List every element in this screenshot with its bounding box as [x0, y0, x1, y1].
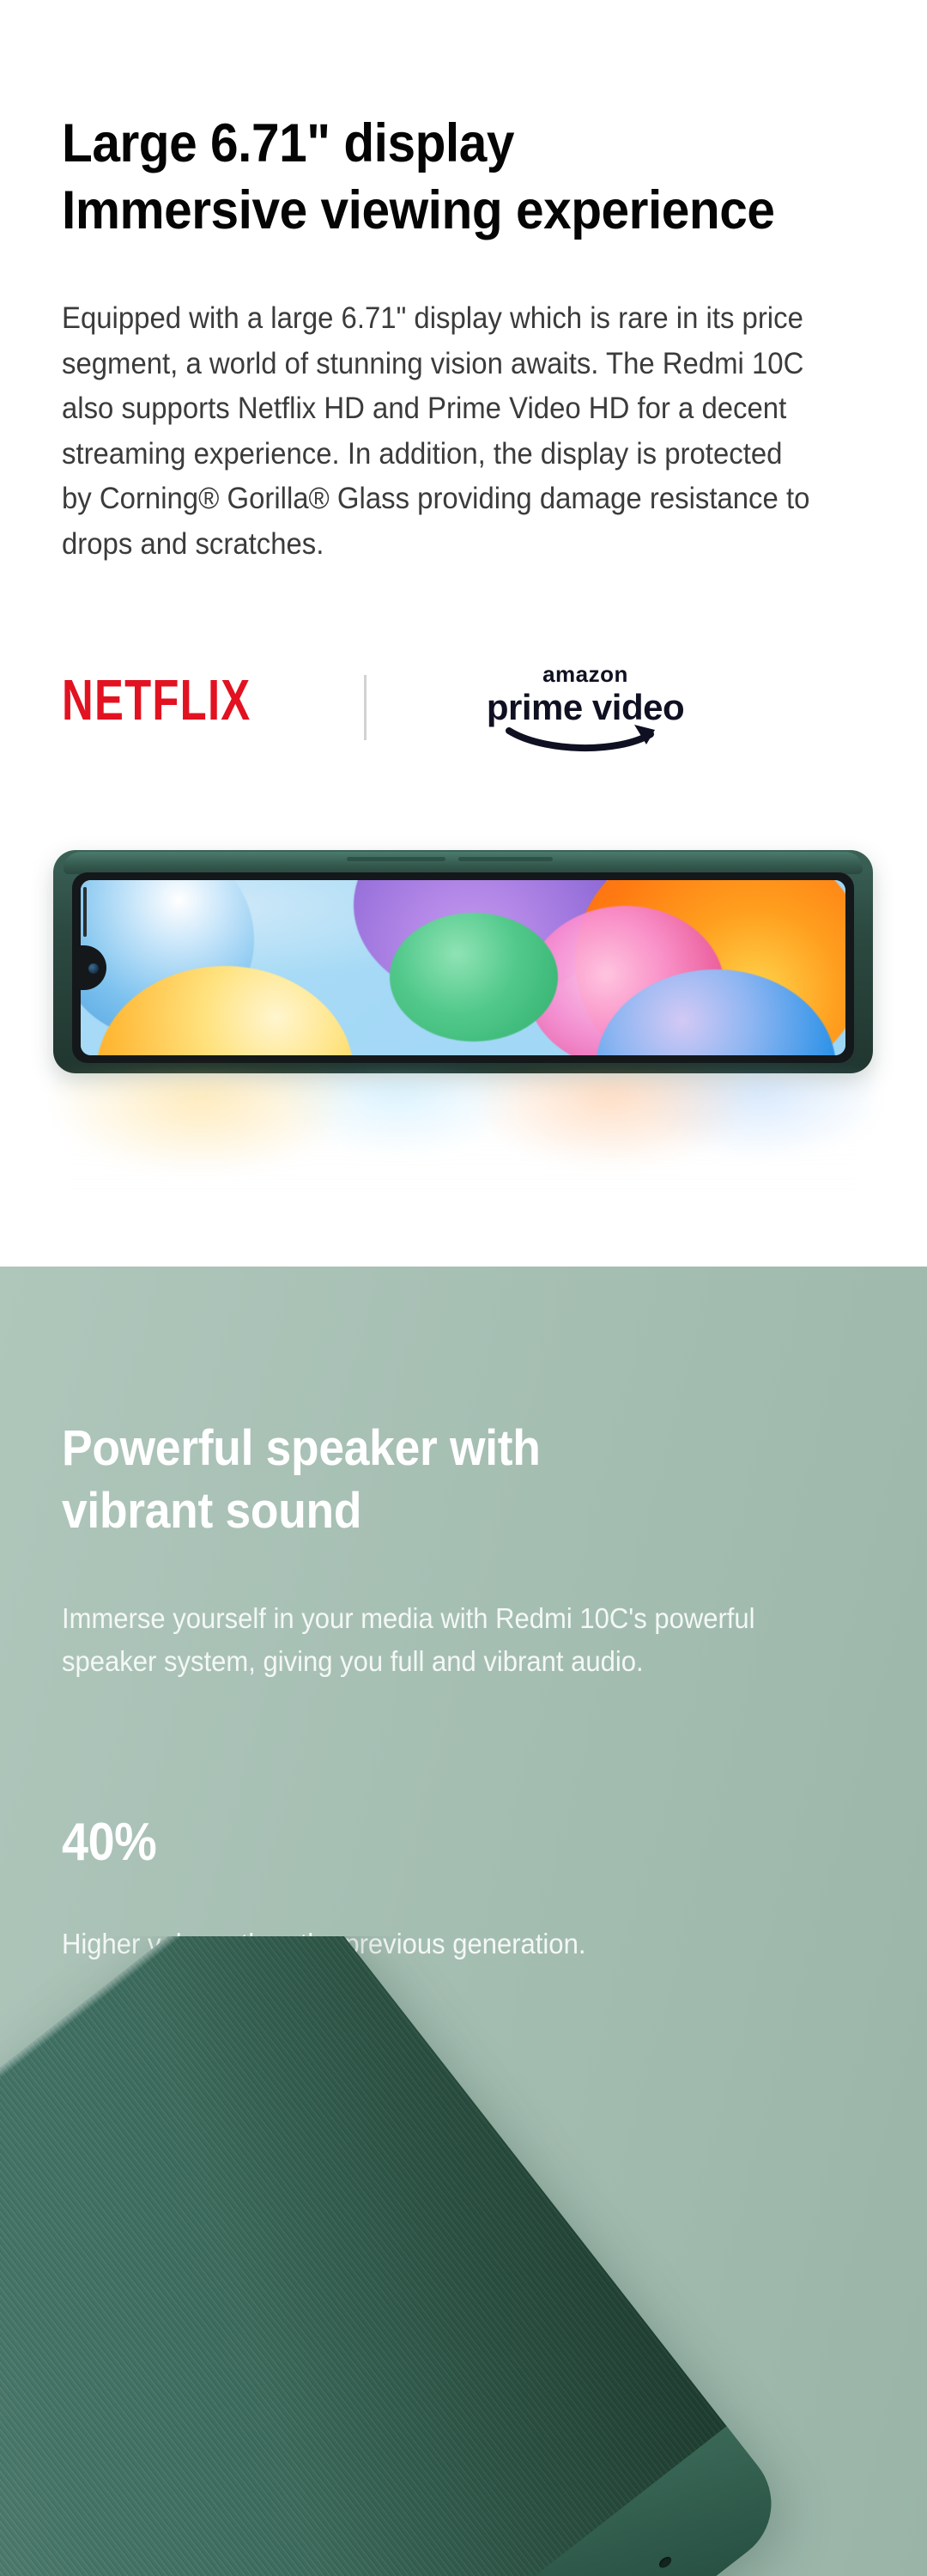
streaming-partner-logos: NETFLIX amazon prime video [62, 661, 714, 751]
wallpaper-blob-green [390, 913, 558, 1042]
prime-video-wordmark: prime video [487, 687, 684, 728]
reflection-fade-overlay [0, 1157, 927, 1267]
phone-back-cover [0, 1936, 796, 2576]
speaker-section-heading: Powerful speaker with vibrant sound [62, 1417, 772, 1542]
display-heading-line-2: Immersive viewing experience [62, 177, 828, 244]
redmi-10c-back-image [0, 1936, 927, 2576]
speaker-section-body: Immerse yourself in your media with Redm… [62, 1597, 772, 1683]
display-heading-line-1: Large 6.71" display [62, 110, 828, 177]
display-feature-section: Large 6.71" display Immersive viewing ex… [0, 0, 927, 1267]
earpiece-speaker [83, 887, 87, 937]
phone-body [53, 850, 873, 1073]
redmi-10c-front-image [0, 820, 927, 1267]
amazon-wordmark: amazon [542, 661, 628, 688]
amazon-smile-arrow-icon [504, 723, 667, 752]
phone-screen [81, 880, 845, 1055]
amazon-prime-video-logo: amazon prime video [457, 661, 714, 747]
speaker-heading-line-2: vibrant sound [62, 1479, 772, 1542]
volume-up-button [347, 857, 445, 861]
display-section-heading: Large 6.71" display Immersive viewing ex… [62, 110, 828, 244]
front-camera-icon [88, 963, 99, 974]
display-section-body: Equipped with a large 6.71" display whic… [62, 296, 812, 567]
phone-side-rail [64, 852, 863, 874]
volume-stat-value: 40% [62, 1812, 156, 1873]
speaker-heading-line-1: Powerful speaker with [62, 1417, 772, 1479]
product-landing-page: Large 6.71" display Immersive viewing ex… [0, 0, 927, 2576]
volume-down-button [458, 857, 553, 861]
netflix-logo: NETFLIX [62, 668, 251, 733]
speaker-feature-section: Powerful speaker with vibrant sound Imme… [0, 1267, 927, 2576]
phone-bezel [72, 872, 854, 1063]
logo-divider [364, 675, 367, 740]
